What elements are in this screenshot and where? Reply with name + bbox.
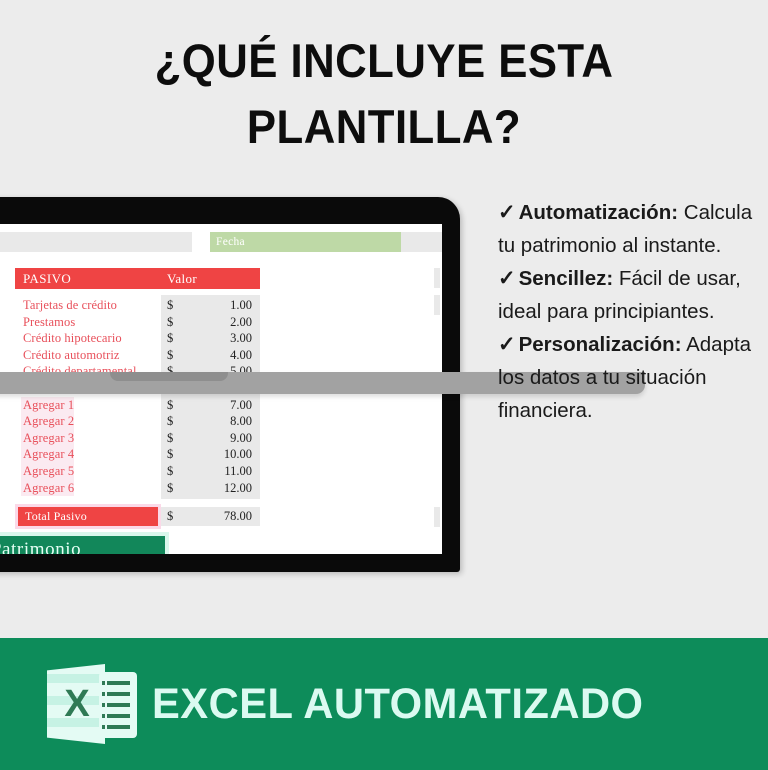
page-title-line-1: ¿QUÉ INCLUYE ESTA	[27, 28, 741, 94]
pasivo-row-value[interactable]: $1.00	[161, 297, 260, 314]
currency-symbol: $	[167, 430, 173, 447]
feature-item: ✓Personalización: Adapta los datos a tu …	[498, 328, 760, 427]
bottom-banner: X EXCEL AUTOMATIZADO	[0, 638, 768, 770]
currency-symbol: $	[167, 330, 173, 347]
amount: 4.00	[230, 347, 252, 364]
sheet-edge-cell	[434, 295, 440, 315]
pasivo-row-label: Crédito hipotecario	[21, 330, 122, 347]
currency-symbol: $	[167, 314, 173, 331]
amount: 78.00	[224, 507, 252, 526]
pasivo-row-label: Agregar 4	[21, 446, 74, 463]
pasivo-header-value: Valor	[167, 268, 197, 289]
feature-title: Personalización:	[519, 333, 682, 356]
pasivo-row-value[interactable]: $9.00	[161, 430, 260, 447]
pasivo-row-label: Agregar 1	[21, 397, 74, 414]
pasivo-row-value[interactable]: $4.00	[161, 347, 260, 364]
pasivo-row-label: Crédito automotriz	[21, 347, 120, 364]
amount: 8.00	[230, 413, 252, 430]
currency-symbol: $	[167, 297, 173, 314]
pasivo-row-value[interactable]: $2.00	[161, 314, 260, 331]
feature-item: ✓Sencillez: Fácil de usar, ideal para pr…	[498, 262, 760, 328]
currency-symbol: $	[167, 347, 173, 364]
pasivo-row-label: Agregar 3	[21, 430, 74, 447]
pasivo-total-value[interactable]: $78.00	[161, 507, 260, 526]
pasivo-row-value[interactable]: $7.00	[161, 397, 260, 414]
currency-symbol: $	[167, 397, 173, 414]
currency-symbol: $	[167, 463, 173, 480]
pasivo-row-label: Agregar 5	[21, 463, 74, 480]
excel-logo-icon: X	[47, 660, 139, 748]
amount: 11.00	[224, 463, 252, 480]
amount: 12.00	[224, 480, 252, 497]
pasivo-row-label: Agregar 6	[21, 480, 74, 497]
page-title-line-2: PLANTILLA?	[27, 94, 741, 160]
pasivo-row-label: Prestamos	[21, 314, 75, 331]
sheet-edge-cell	[434, 268, 440, 288]
amount: 3.00	[230, 330, 252, 347]
banner-title: EXCEL AUTOMATIZADO	[152, 678, 644, 730]
laptop-trackpad-notch	[110, 372, 228, 381]
pasivo-header-label: PASIVO	[23, 268, 71, 289]
feature-item: ✓Automatización: Calcula tu patrimonio a…	[498, 196, 760, 262]
currency-symbol: $	[167, 507, 173, 526]
feature-list: ✓Automatización: Calcula tu patrimonio a…	[498, 196, 760, 427]
pasivo-total-bar: Total Pasivo	[18, 507, 158, 526]
pasivo-row-value[interactable]: $3.00	[161, 330, 260, 347]
pasivo-row-value[interactable]: $12.00	[161, 480, 260, 497]
currency-symbol: $	[167, 413, 173, 430]
amount: 10.00	[224, 446, 252, 463]
amount: 1.00	[230, 297, 252, 314]
amount: 9.00	[230, 430, 252, 447]
pasivo-row-label: Agregar 2	[21, 413, 74, 430]
activo-date-value-cell[interactable]	[0, 232, 192, 252]
pasivo-row-value[interactable]: $8.00	[161, 413, 260, 430]
check-icon: ✓	[498, 201, 516, 224]
sheet-edge-cell	[434, 507, 440, 527]
feature-title: Sencillez:	[519, 267, 614, 290]
check-icon: ✓	[498, 267, 516, 290]
total-patrimonio-bar: Total Patrimonio	[0, 536, 165, 554]
pasivo-header: PASIVOValor	[15, 268, 260, 289]
amount: 2.00	[230, 314, 252, 331]
page-title: ¿QUÉ INCLUYE ESTA PLANTILLA?	[0, 28, 768, 160]
excel-logo-grid	[99, 672, 137, 738]
sheet-edge-cell	[434, 232, 440, 252]
feature-title: Automatización:	[519, 201, 678, 224]
check-icon: ✓	[498, 333, 516, 356]
pasivo-row-value[interactable]: $10.00	[161, 446, 260, 463]
pasivo-row-value[interactable]: $11.00	[161, 463, 260, 480]
pasivo-row-label: Tarjetas de crédito	[21, 297, 117, 314]
excel-logo-letter: X	[57, 682, 97, 726]
currency-symbol: $	[167, 480, 173, 497]
currency-symbol: $	[167, 446, 173, 463]
amount: 7.00	[230, 397, 252, 414]
